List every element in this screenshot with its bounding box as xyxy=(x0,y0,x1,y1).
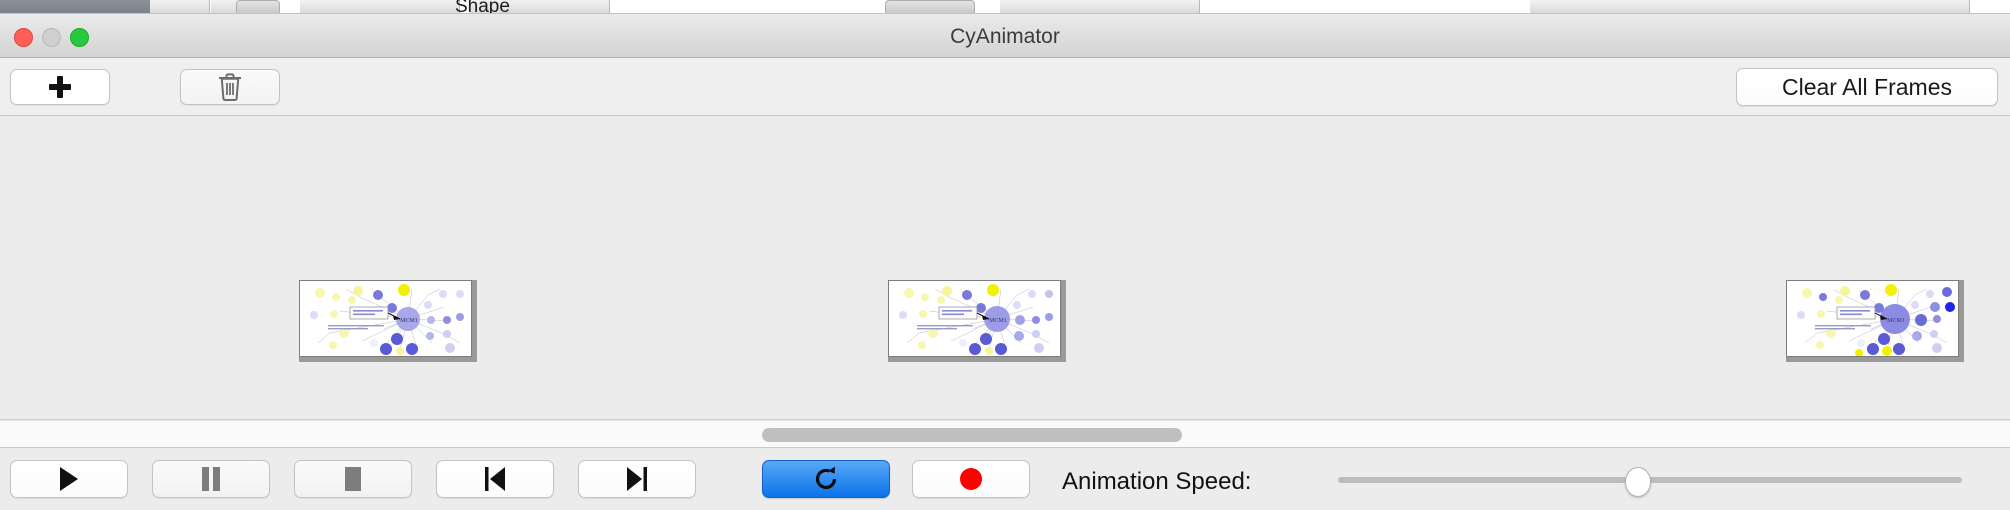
frame-thumbnail[interactable]: MCM1 xyxy=(888,280,1066,362)
stop-button[interactable] xyxy=(294,460,412,498)
network-graph: MCM1 xyxy=(889,281,1061,357)
delete-frame-button[interactable] xyxy=(180,69,280,105)
play-button[interactable] xyxy=(10,460,128,498)
toolbar: Clear All Frames xyxy=(0,58,2010,116)
background-window-segment xyxy=(1530,0,1970,14)
network-graph: MCM1 xyxy=(1787,281,1959,357)
clear-all-frames-button[interactable]: Clear All Frames xyxy=(1736,68,1998,106)
plus-icon xyxy=(49,76,71,98)
skip-previous-icon xyxy=(483,466,507,492)
background-window-segment xyxy=(1000,0,1200,14)
loop-button[interactable] xyxy=(762,460,890,498)
stop-icon xyxy=(342,466,364,492)
window-title: CyAnimator xyxy=(0,25,2010,49)
skip-previous-button[interactable] xyxy=(436,460,554,498)
clear-all-frames-label: Clear All Frames xyxy=(1782,74,1952,101)
frame-thumbnail-image: MCM1 xyxy=(1786,280,1959,357)
network-graph: MCM1 xyxy=(300,281,472,357)
background-window-segment xyxy=(300,0,460,14)
animation-speed-label: Animation Speed: xyxy=(1062,468,1251,496)
hub-node-label: MCM1 xyxy=(400,318,418,324)
background-window-tab xyxy=(236,0,280,14)
record-button[interactable] xyxy=(912,460,1030,498)
titlebar: CyAnimator xyxy=(0,14,2010,58)
cyanimator-window: CyAnimator Clear All Frames xyxy=(0,13,2010,510)
background-window-dark-panel xyxy=(0,0,150,13)
scrollbar-thumb[interactable] xyxy=(762,428,1182,442)
loop-icon xyxy=(812,465,840,493)
record-icon xyxy=(958,466,984,492)
timeline-scrollbar[interactable] xyxy=(0,420,2010,448)
add-frame-button[interactable] xyxy=(10,69,110,105)
background-window-segment xyxy=(150,0,210,14)
playback-controls: Animation Speed: xyxy=(0,448,2010,510)
background-window-tab xyxy=(885,0,975,14)
play-icon xyxy=(57,466,81,492)
frame-thumbnail[interactable]: MCM1 xyxy=(1786,280,1964,362)
background-window-strip: Shape xyxy=(0,0,2010,14)
hub-node-label: MCM1 xyxy=(1887,318,1905,324)
pause-button[interactable] xyxy=(152,460,270,498)
frame-thumbnail[interactable]: MCM1 xyxy=(299,280,477,362)
timeline-panel[interactable]: MCM1 xyxy=(0,116,2010,420)
skip-next-icon xyxy=(625,466,649,492)
frame-thumbnail-image: MCM1 xyxy=(299,280,472,357)
skip-next-button[interactable] xyxy=(578,460,696,498)
background-window-label: Shape xyxy=(455,0,510,14)
hub-node-label: MCM1 xyxy=(989,318,1007,324)
trash-icon xyxy=(217,72,243,102)
animation-speed-slider-thumb[interactable] xyxy=(1625,467,1651,497)
pause-icon xyxy=(200,466,222,492)
frame-thumbnail-image: MCM1 xyxy=(888,280,1061,357)
